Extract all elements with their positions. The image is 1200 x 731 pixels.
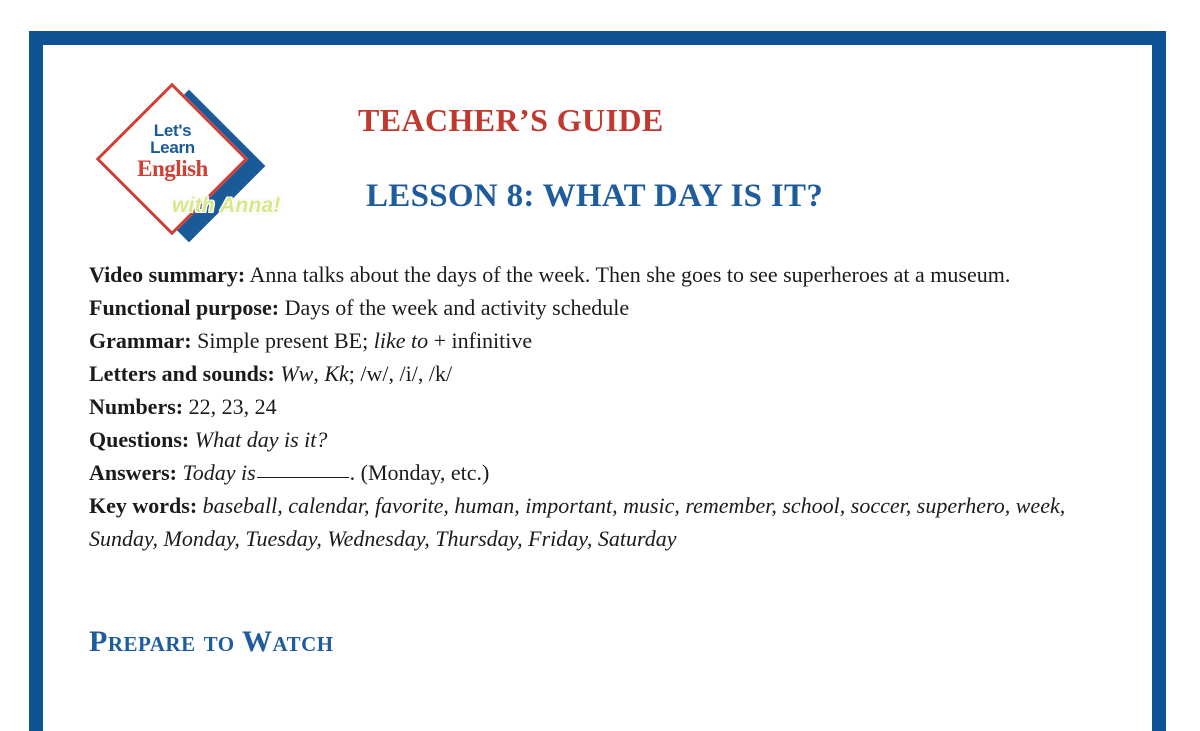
value-answers-italic: Today is xyxy=(183,460,256,485)
meta-row-questions: Questions: What day is it? xyxy=(89,423,1079,456)
value-key-words: baseball, calendar, favorite, human, imp… xyxy=(89,493,1065,551)
meta-row-answers: Answers: Today is. (Monday, etc.) xyxy=(89,456,1079,489)
label-functional-purpose: Functional purpose: xyxy=(89,295,279,320)
label-grammar: Grammar: xyxy=(89,328,192,353)
value-answers-text: . (Monday, etc.) xyxy=(350,460,490,485)
value-questions: What day is it? xyxy=(195,427,328,452)
value-letters-sounds: ; /w/, /i/, /k/ xyxy=(349,361,452,386)
logo-line-learn: Learn xyxy=(120,139,225,156)
lesson-title: LESSON 8: WHAT DAY IS IT? xyxy=(366,178,823,215)
label-key-words: Key words: xyxy=(89,493,197,518)
value-grammar-italic: like to xyxy=(374,328,428,353)
label-video-summary: Video summary: xyxy=(89,262,245,287)
document-content: Let's Learn English with Anna! TEACHER’S… xyxy=(0,0,1200,675)
meta-row-letters-and-sounds: Letters and sounds: Ww, Kk; /w/, /i/, /k… xyxy=(89,357,1079,390)
meta-row-numbers: Numbers: 22, 23, 24 xyxy=(89,390,1079,423)
value-letters-sep: , xyxy=(313,361,324,386)
logo-line-english: English xyxy=(120,157,225,180)
document-header: Let's Learn English with Anna! TEACHER’S… xyxy=(86,78,1106,238)
value-numbers: 22, 23, 24 xyxy=(183,394,277,419)
lets-learn-english-logo: Let's Learn English with Anna! xyxy=(110,92,315,224)
value-video-summary: Anna talks about the days of the week. T… xyxy=(245,262,1010,287)
logo-tagline-with-anna: with Anna! xyxy=(172,194,281,218)
section-heading-prepare-to-watch: Prepare to Watch xyxy=(89,625,334,659)
meta-row-functional-purpose: Functional purpose: Days of the week and… xyxy=(89,291,1079,324)
answer-blank-line xyxy=(257,477,349,478)
value-letters-italic-ww: Ww xyxy=(280,361,313,386)
label-questions: Questions: xyxy=(89,427,189,452)
document-page: Let's Learn English with Anna! TEACHER’S… xyxy=(0,0,1200,675)
meta-row-grammar: Grammar: Simple present BE; like to + in… xyxy=(89,324,1079,357)
label-answers: Answers: xyxy=(89,460,177,485)
logo-text-group: Let's Learn English xyxy=(120,122,225,180)
meta-row-video-summary: Video summary: Anna talks about the days… xyxy=(89,258,1079,291)
value-grammar-part1: Simple present BE; xyxy=(192,328,374,353)
value-letters-italic-kk: Kk xyxy=(324,361,348,386)
label-letters-and-sounds: Letters and sounds: xyxy=(89,361,275,386)
label-numbers: Numbers: xyxy=(89,394,183,419)
meta-row-key-words: Key words: baseball, calendar, favorite,… xyxy=(89,489,1079,555)
value-functional-purpose: Days of the week and activity schedule xyxy=(279,295,629,320)
value-grammar-part2: + infinitive xyxy=(428,328,532,353)
lesson-metadata-block: Video summary: Anna talks about the days… xyxy=(89,258,1079,555)
logo-line-lets: Let's xyxy=(120,122,225,139)
teachers-guide-title: TEACHER’S GUIDE xyxy=(358,102,664,139)
